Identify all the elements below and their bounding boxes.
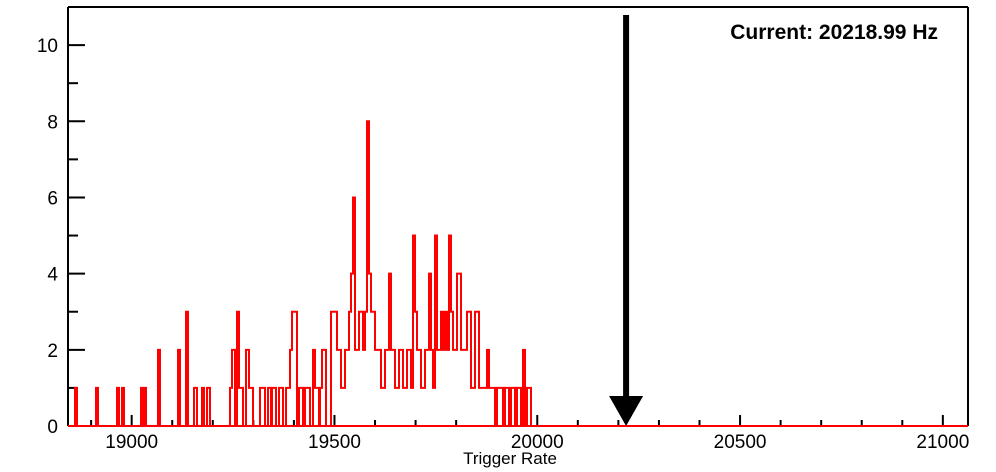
y-tick-label: 6 [47, 188, 58, 209]
x-axis-title: Trigger Rate [463, 449, 557, 468]
chart-canvas: 1900019500200002050021000 0246810 Curren… [0, 0, 996, 472]
y-tick-label: 2 [47, 341, 58, 362]
y-tick-label: 4 [47, 265, 58, 286]
x-tick-label: 19000 [105, 432, 158, 453]
y-tick-label: 0 [47, 417, 58, 438]
histogram-series [75, 121, 531, 426]
x-tick-label: 20500 [714, 432, 767, 453]
y-tick-label: 8 [47, 112, 58, 133]
x-tick-label: 21000 [916, 432, 969, 453]
y-axis-tick-labels: 0246810 [37, 36, 59, 438]
y-tick-label: 10 [37, 36, 58, 57]
x-tick-label: 19500 [308, 432, 361, 453]
current-value-label: Current: 20218.99 Hz [730, 21, 938, 44]
histogram-plot: 1900019500200002050021000 0246810 Curren… [0, 0, 996, 472]
current-value-marker [609, 15, 643, 426]
y-axis-ticks [68, 7, 968, 426]
marker-arrow-icon [609, 396, 643, 426]
plot-frame [68, 7, 968, 426]
